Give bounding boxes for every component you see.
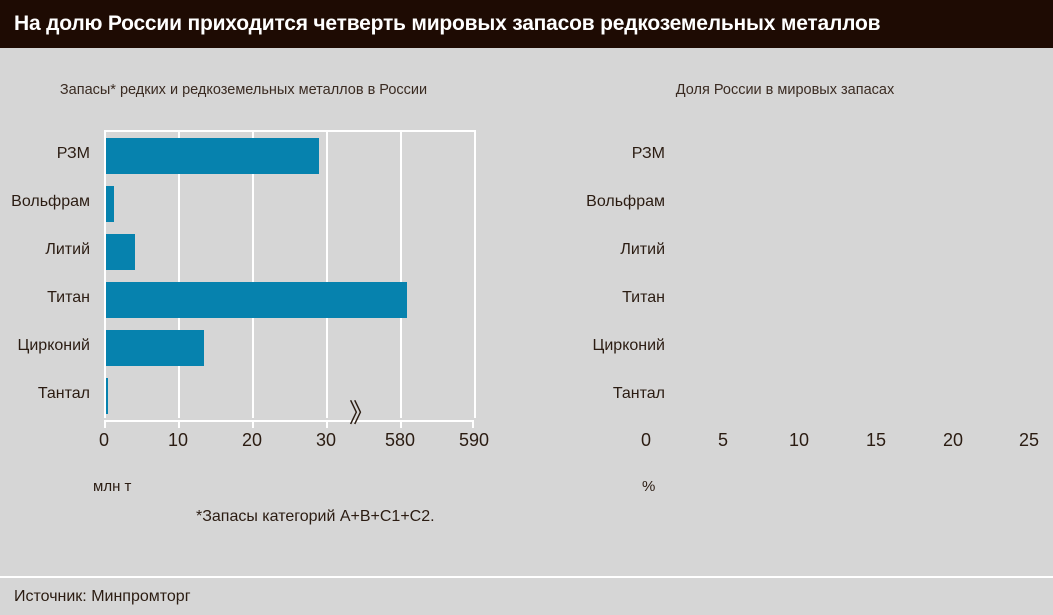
xtick-label-right-4: 20 — [943, 430, 963, 451]
xtick-label-right-3: 15 — [866, 430, 886, 451]
bar-Цирконий — [106, 330, 204, 366]
gridline — [252, 132, 254, 418]
category-label-cirkoniy-right: Цирконий — [593, 328, 665, 364]
footer-divider — [0, 576, 1053, 578]
gridline — [400, 132, 402, 418]
xtick-label-right-2: 10 — [789, 430, 809, 451]
bar-Титан — [106, 282, 407, 318]
bar-Вольфрам — [106, 186, 114, 222]
footnote: *Запасы категорий А+В+С1+С2. — [196, 508, 435, 526]
chart-title-left: Запасы* редких и редкоземельных металлов… — [0, 82, 527, 98]
gridline — [178, 132, 180, 418]
xtick-label-left-3: 30 — [316, 430, 336, 451]
bar-Тантал — [106, 378, 108, 414]
header-bar: На долю России приходится четверть миров… — [0, 0, 1053, 48]
unit-label-left: млн т — [93, 478, 131, 495]
xtick-label-left-5: 590 — [459, 430, 489, 451]
axis-break-icon: 》 — [349, 400, 371, 426]
xtick-label-right-1: 5 — [718, 430, 728, 451]
unit-label-right: % — [642, 478, 655, 495]
bar-РЗМ — [106, 138, 319, 174]
category-label-volfram-left: Вольфрам — [11, 184, 90, 220]
xtick-label-right-0: 0 — [641, 430, 651, 451]
y-axis-line — [104, 132, 106, 418]
bar-Литий — [106, 234, 135, 270]
chart-title-right: Доля России в мировых запасах — [527, 82, 1053, 98]
category-label-rzm-left: РЗМ — [57, 136, 90, 172]
category-label-titan-left: Титан — [47, 280, 90, 316]
page-title: На долю России приходится четверть миров… — [0, 12, 880, 36]
gridline — [326, 132, 328, 418]
category-label-cirkoniy-left: Цирконий — [18, 328, 90, 364]
xtick-label-left-4: 580 — [385, 430, 415, 451]
category-label-litiy-left: Литий — [45, 232, 90, 268]
xtick-label-left-1: 10 — [168, 430, 188, 451]
plot-area-left — [104, 130, 476, 418]
xtick-label-right-5: 25 — [1019, 430, 1039, 451]
xtick-label-left-2: 20 — [242, 430, 262, 451]
x-axis-line — [104, 420, 474, 422]
category-label-tantal-right: Тантал — [613, 376, 665, 412]
category-label-volfram-right: Вольфрам — [586, 184, 665, 220]
category-label-tantal-left: Тантал — [38, 376, 90, 412]
source-label: Источник: Минпромторг — [14, 588, 191, 606]
xtick-label-left-0: 0 — [99, 430, 109, 451]
category-label-titan-right: Титан — [622, 280, 665, 316]
chart-panel-left: Запасы* редких и редкоземельных металлов… — [0, 48, 527, 558]
chart-panel-right: Доля России в мировых запасах РЗМ Вольфр… — [527, 48, 1053, 558]
category-label-rzm-right: РЗМ — [632, 136, 665, 172]
category-label-litiy-right: Литий — [620, 232, 665, 268]
